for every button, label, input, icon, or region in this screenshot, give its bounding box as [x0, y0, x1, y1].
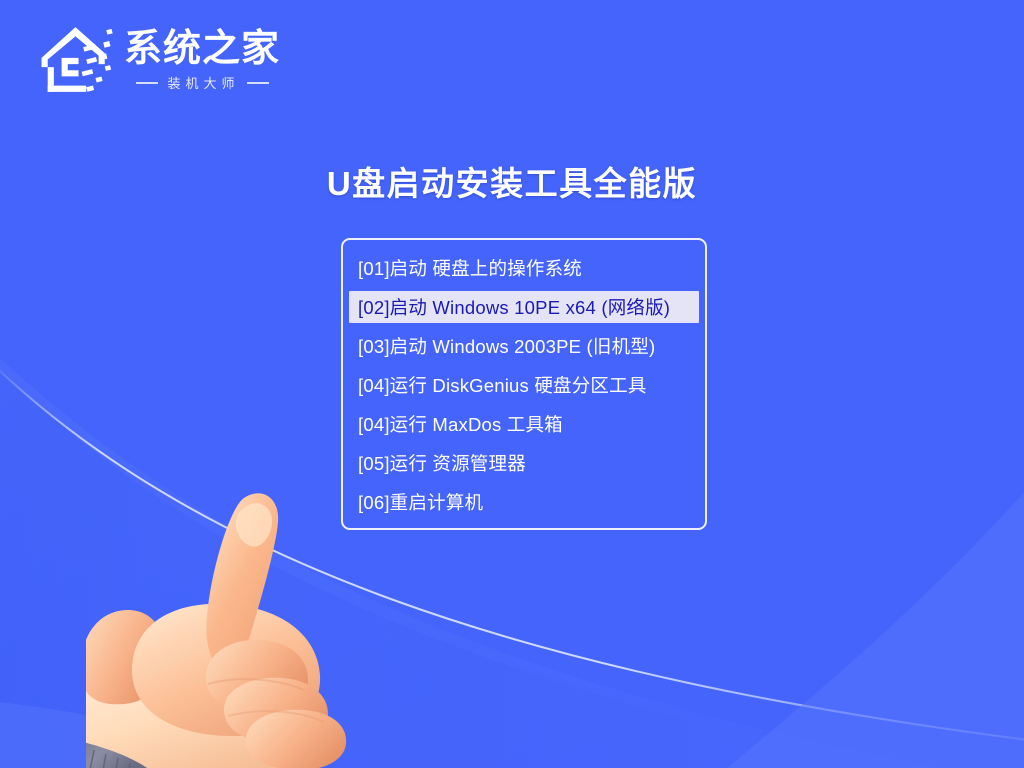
logo-subtitle-row: 装机大师	[136, 73, 269, 92]
menu-item-03[interactable]: [03]启动 Windows 2003PE (旧机型)	[349, 330, 699, 362]
page-title: U盘启动安装工具全能版	[0, 157, 1024, 205]
hand-index-finger	[207, 493, 279, 671]
logo-subtitle: 装机大师	[165, 73, 240, 92]
hand-thumb	[86, 610, 166, 704]
menu-item-05[interactable]: [05]运行 资源管理器	[349, 447, 699, 479]
menu-item-01[interactable]: [01]启动 硬盘上的操作系统	[349, 252, 699, 284]
boot-menu-list: [01]启动 硬盘上的操作系统 [02]启动 Windows 10PE x64 …	[341, 238, 707, 530]
hand-finger-2	[224, 678, 328, 744]
sleeve-ribbing	[86, 742, 130, 768]
sleeve-cuff	[86, 738, 150, 768]
hand-finger-1	[206, 640, 308, 713]
background-sweep-bottom-right	[700, 470, 1024, 768]
hand-index-highlight	[236, 503, 272, 546]
brand-logo: 系统之家 装机大师	[38, 18, 298, 104]
hand-wrist	[86, 654, 294, 768]
hand-crease-2	[228, 711, 324, 722]
background-block-bottom-left	[0, 700, 150, 768]
house-pixel-logo-icon	[38, 24, 116, 98]
hand-crease-1	[208, 679, 304, 690]
menu-item-02[interactable]: [02]启动 Windows 10PE x64 (网络版)	[349, 291, 699, 323]
menu-item-04-diskgenius[interactable]: [04]运行 DiskGenius 硬盘分区工具	[349, 369, 699, 401]
boot-menu-screen: 系统之家 装机大师 U盘启动安装工具全能版 [01]启动 硬盘上的操作系统 [0…	[0, 0, 1024, 768]
hand-palm	[132, 604, 320, 736]
logo-brand-name: 系统之家	[124, 30, 280, 70]
logo-dash-right	[247, 82, 269, 84]
menu-item-06[interactable]: [06]重启计算机	[349, 486, 699, 518]
menu-item-04-maxdos[interactable]: [04]运行 MaxDos 工具箱	[349, 408, 699, 440]
logo-dash-left	[136, 82, 158, 84]
hand-finger-3	[246, 710, 346, 768]
